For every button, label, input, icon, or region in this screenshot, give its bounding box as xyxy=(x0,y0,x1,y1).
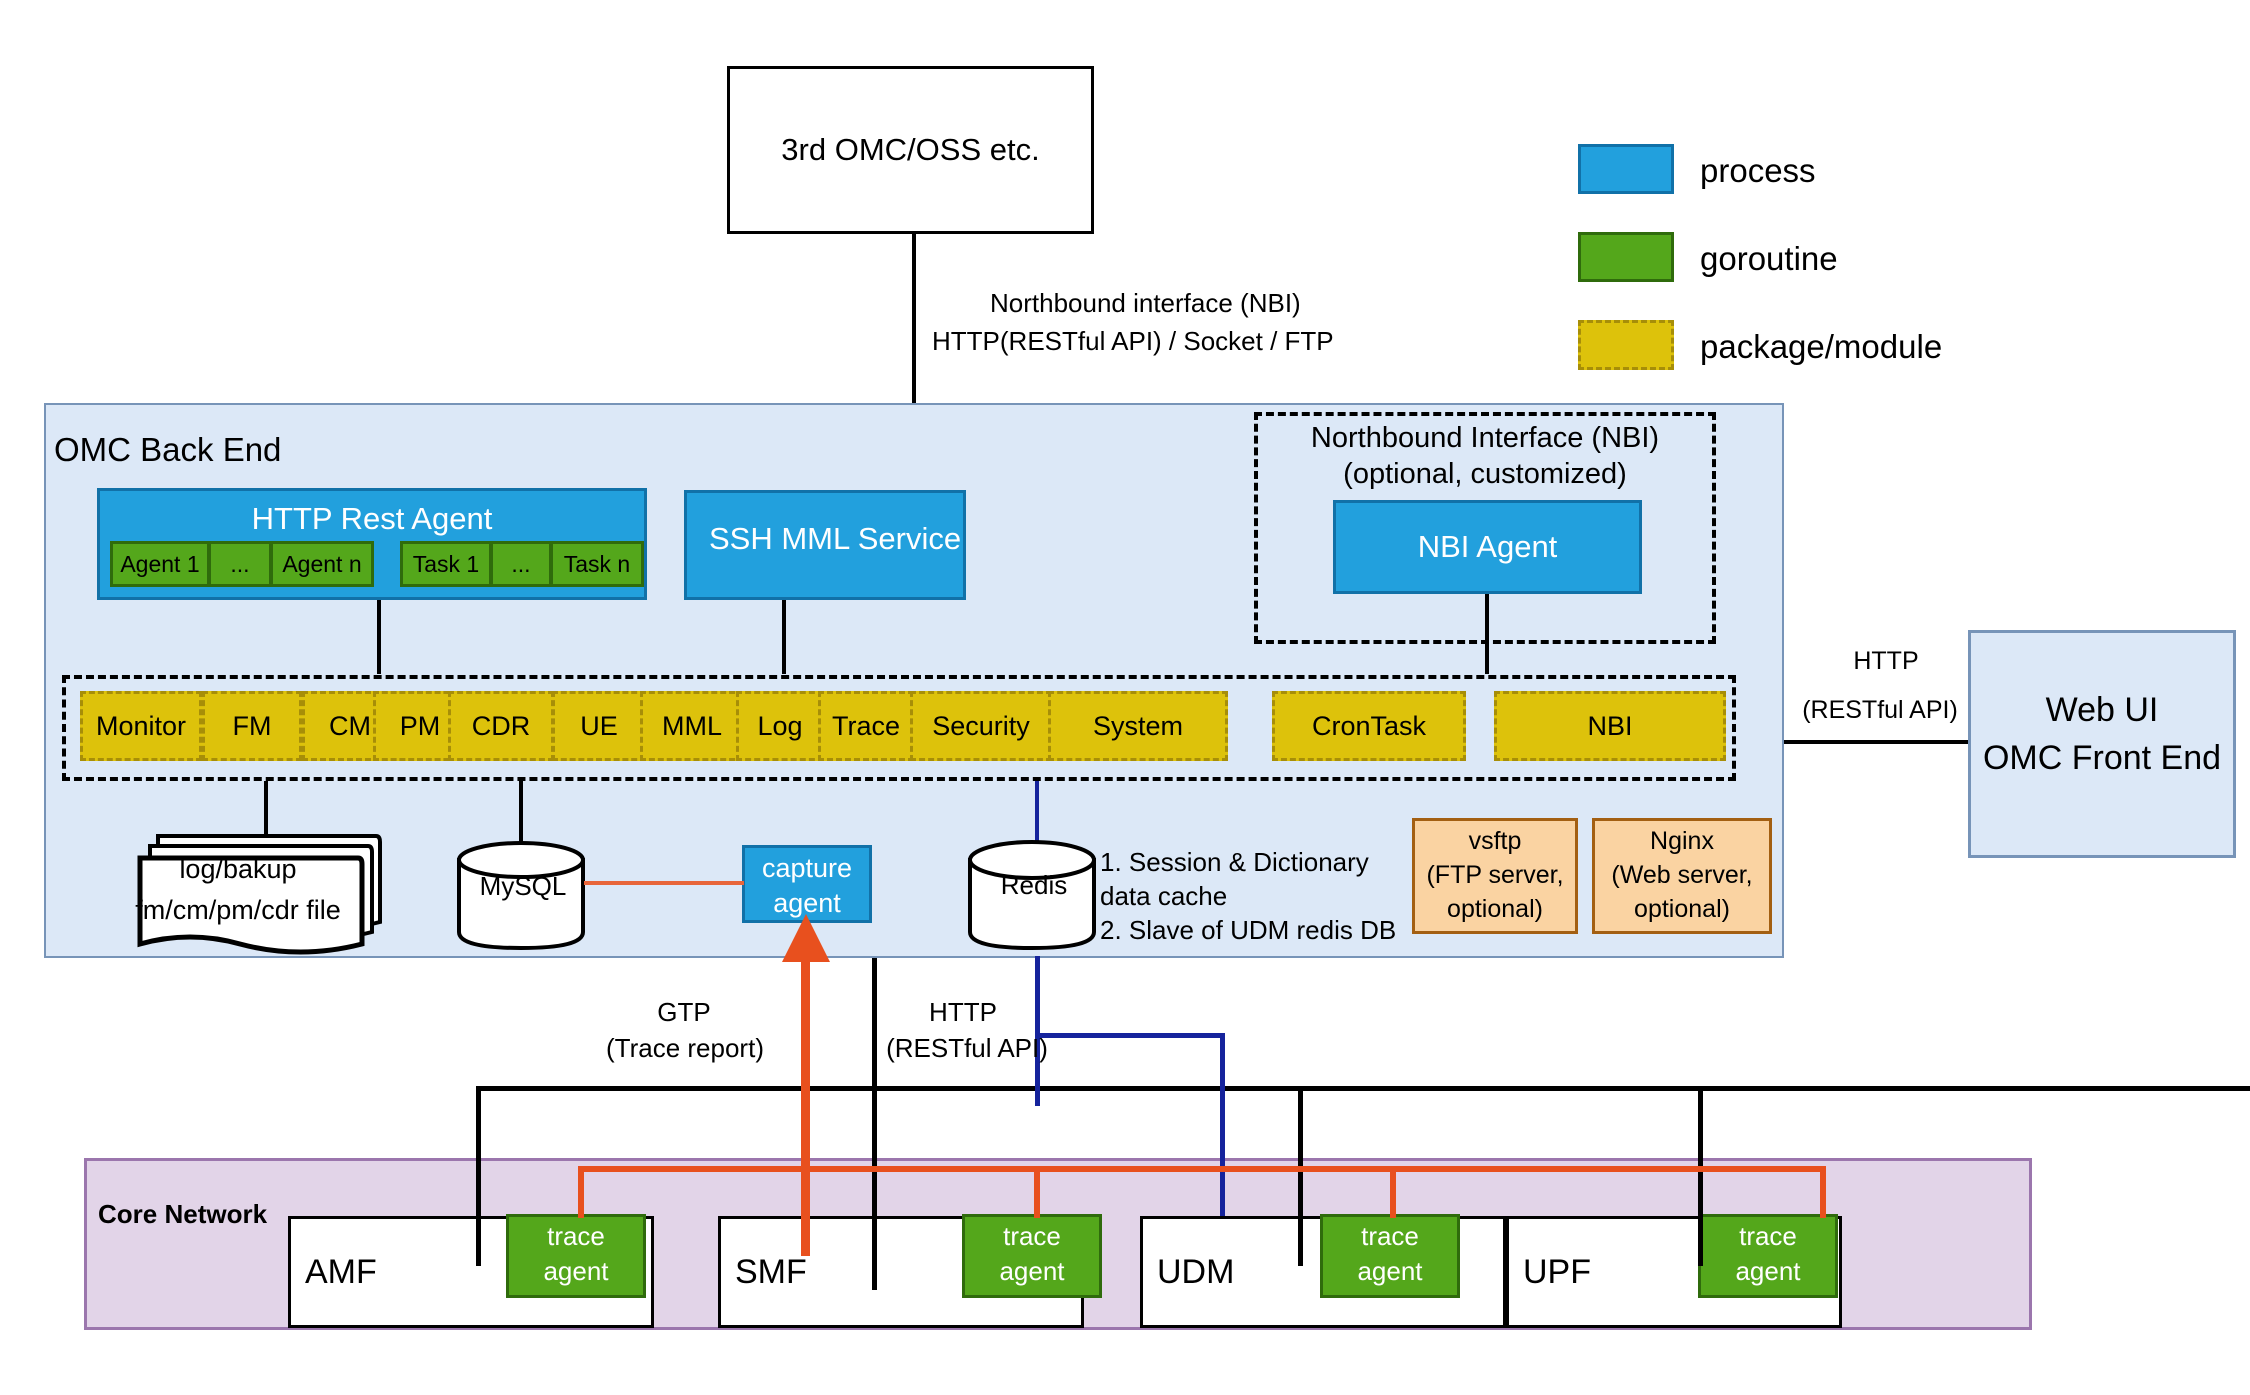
connector-redis-to-udm-vertical-upper xyxy=(1035,956,1040,1106)
ssh-mml-service-box: SSH MML Service xyxy=(684,490,966,600)
trace-agent-amf: trace agent xyxy=(506,1214,646,1298)
connector-http-rest-agent-to-modules xyxy=(377,600,381,674)
module-cdr[interactable]: CDR xyxy=(448,691,554,761)
module-fm[interactable]: FM xyxy=(202,691,302,761)
goroutine-agent-n: Agent n xyxy=(270,541,374,587)
trace-agent-smf-line2: agent xyxy=(965,1255,1099,1289)
goroutine-task-1: Task 1 xyxy=(400,541,492,587)
capture-agent-label-line1: capture xyxy=(745,851,869,885)
trace-agent-smf-line1: trace xyxy=(965,1220,1099,1254)
connector-trace-drop-amf xyxy=(578,1166,584,1218)
connector-http-drop-smf xyxy=(872,1086,877,1266)
trace-agent-udm: trace agent xyxy=(1320,1214,1460,1298)
vsftp-name: vsftp xyxy=(1415,825,1575,857)
goroutine-task-ellipsis-label: ... xyxy=(511,551,530,578)
nginx-name: Nginx xyxy=(1595,825,1769,857)
log-backup-label-line1: log/bakup xyxy=(138,852,338,886)
nbi-link-label-line2: HTTP(RESTful API) / Socket / FTP xyxy=(932,325,1334,358)
core-node-upf-label: UPF xyxy=(1523,1251,1591,1295)
goroutine-task-n-label: Task n xyxy=(564,551,630,578)
goroutine-agent-ellipsis: ... xyxy=(208,541,272,587)
redis-label: Redis xyxy=(966,869,1102,903)
redis-note-line3: 2. Slave of UDM redis DB xyxy=(1100,914,1396,947)
goroutine-task-ellipsis: ... xyxy=(490,541,552,587)
gtp-arrowhead-icon xyxy=(780,912,832,968)
nbi-group-title-line2: (optional, customized) xyxy=(1254,457,1716,493)
vsftp-detail-line2: optional) xyxy=(1415,893,1575,925)
module-crontask-label: CronTask xyxy=(1312,711,1426,742)
goroutine-agent-1: Agent 1 xyxy=(110,541,210,587)
log-backup-label-line2: fm/cm/pm/cdr file xyxy=(128,893,348,927)
goroutine-agent-n-label: Agent n xyxy=(282,551,361,578)
core-node-amf-label: AMF xyxy=(305,1251,377,1295)
module-pm-label: PM xyxy=(400,711,441,742)
module-log[interactable]: Log xyxy=(736,691,824,761)
module-monitor[interactable]: Monitor xyxy=(80,691,202,761)
connector-http-spine-right-end xyxy=(1698,1086,1703,1266)
trace-agent-amf-line1: trace xyxy=(509,1220,643,1254)
connector-cdr-to-mysql xyxy=(519,781,523,847)
redis-note-line1: 1. Session & Dictionary xyxy=(1100,846,1369,879)
connector-http-drop-udm xyxy=(1298,1086,1303,1266)
third-party-omc-oss-label: 3rd OMC/OSS etc. xyxy=(781,132,1039,168)
connector-mysql-to-capture-agent xyxy=(584,881,744,885)
front-end-label-line1: Web UI xyxy=(1971,689,2233,733)
module-cdr-label: CDR xyxy=(472,711,531,742)
nginx-detail-line1: (Web server, xyxy=(1595,859,1769,891)
nbi-link-label-line1: Northbound interface (NBI) xyxy=(990,287,1301,320)
vsftp-detail-line1: (FTP server, xyxy=(1415,859,1575,891)
nginx-detail-line2: optional) xyxy=(1595,893,1769,925)
nbi-agent-box: NBI Agent xyxy=(1333,500,1642,594)
gtp-link-label-line1: GTP xyxy=(604,996,764,1030)
connector-http-bus-spine xyxy=(476,1086,2250,1091)
connector-nbi-agent-to-modules xyxy=(1485,594,1489,674)
module-ue-label: UE xyxy=(580,711,618,742)
legend-swatch-process xyxy=(1578,144,1674,194)
legend-swatch-package-module xyxy=(1578,320,1674,370)
omc-back-end-title: OMC Back End xyxy=(54,429,281,471)
third-party-omc-oss-box: 3rd OMC/OSS etc. xyxy=(727,66,1094,234)
module-security[interactable]: Security xyxy=(910,691,1052,761)
connector-redis-to-udm-vertical-lower xyxy=(1220,1033,1225,1216)
goroutine-agent-1-label: Agent 1 xyxy=(120,551,199,578)
trace-agent-upf-line1: trace xyxy=(1701,1220,1835,1254)
module-nbi-label: NBI xyxy=(1587,711,1632,742)
http-link-label-line1: HTTP xyxy=(888,996,1038,1030)
module-system-label: System xyxy=(1093,711,1183,742)
legend-label-package-module: package/module xyxy=(1700,326,1942,368)
connector-modules-to-front-end xyxy=(1784,740,1972,744)
module-mml-label: MML xyxy=(662,711,722,742)
connector-trace-drop-smf xyxy=(1034,1166,1040,1218)
module-log-label: Log xyxy=(757,711,802,742)
legend-swatch-goroutine xyxy=(1578,232,1674,282)
gtp-link-label-line2: (Trace report) xyxy=(590,1032,780,1066)
trace-agent-upf: trace agent xyxy=(1698,1214,1838,1298)
goroutine-task-1-label: Task 1 xyxy=(413,551,479,578)
legend-label-goroutine: goroutine xyxy=(1700,238,1838,280)
trace-agent-amf-line2: agent xyxy=(509,1255,643,1289)
module-crontask[interactable]: CronTask xyxy=(1272,691,1466,761)
core-node-smf-label: SMF xyxy=(735,1251,807,1295)
trace-agent-udm-line2: agent xyxy=(1323,1255,1457,1289)
module-system[interactable]: System xyxy=(1048,691,1228,761)
nbi-agent-label: NBI Agent xyxy=(1418,529,1558,565)
trace-agent-smf: trace agent xyxy=(962,1214,1102,1298)
front-end-link-label-line1: HTTP xyxy=(1806,645,1966,677)
core-network-title: Core Network xyxy=(98,1198,267,1231)
ssh-mml-service-label: SSH MML Service xyxy=(709,519,961,559)
connector-trace-drop-upf xyxy=(1820,1166,1826,1218)
nginx-box: Nginx (Web server, optional) xyxy=(1592,818,1772,934)
core-node-udm-label: UDM xyxy=(1157,1251,1234,1295)
http-rest-agent-title: HTTP Rest Agent xyxy=(100,497,644,541)
module-security-label: Security xyxy=(932,711,1030,742)
trace-agent-upf-line2: agent xyxy=(1701,1255,1835,1289)
nbi-group-title-line1: Northbound Interface (NBI) xyxy=(1254,421,1716,457)
connector-trace-bus-spine xyxy=(578,1166,1826,1172)
module-ue[interactable]: UE xyxy=(552,691,646,761)
redis-note-line2: data cache xyxy=(1100,880,1227,913)
module-cm-label: CM xyxy=(329,711,371,742)
module-monitor-label: Monitor xyxy=(96,711,186,742)
module-mml[interactable]: MML xyxy=(640,691,744,761)
connector-third-party-to-backend xyxy=(912,234,916,403)
module-nbi[interactable]: NBI xyxy=(1494,691,1726,761)
module-trace-label: Trace xyxy=(832,711,900,742)
mysql-label: MySQL xyxy=(455,870,591,904)
module-fm-label: FM xyxy=(233,711,272,742)
goroutine-task-n: Task n xyxy=(550,541,644,587)
connector-http-drop-amf xyxy=(476,1086,481,1266)
http-link-label-line2: (RESTful API) xyxy=(872,1032,1062,1066)
connector-trace-drop-udm xyxy=(1390,1166,1396,1218)
diagram-canvas: 3rd OMC/OSS etc. Northbound interface (N… xyxy=(0,0,2250,1395)
connector-gtp-trunk-vertical xyxy=(801,956,810,1256)
goroutine-agent-ellipsis-label: ... xyxy=(230,551,249,578)
connector-ssh-mml-to-modules xyxy=(782,600,786,674)
front-end-label-line2: OMC Front End xyxy=(1971,737,2233,781)
module-trace[interactable]: Trace xyxy=(818,691,914,761)
front-end-link-label-line2: (RESTful API) xyxy=(1790,694,1970,726)
vsftp-box: vsftp (FTP server, optional) xyxy=(1412,818,1578,934)
legend-label-process: process xyxy=(1700,150,1816,192)
trace-agent-udm-line1: trace xyxy=(1323,1220,1457,1254)
connector-redis-to-udm-horizontal xyxy=(1035,1033,1225,1038)
omc-front-end-box: Web UI OMC Front End xyxy=(1968,630,2236,858)
